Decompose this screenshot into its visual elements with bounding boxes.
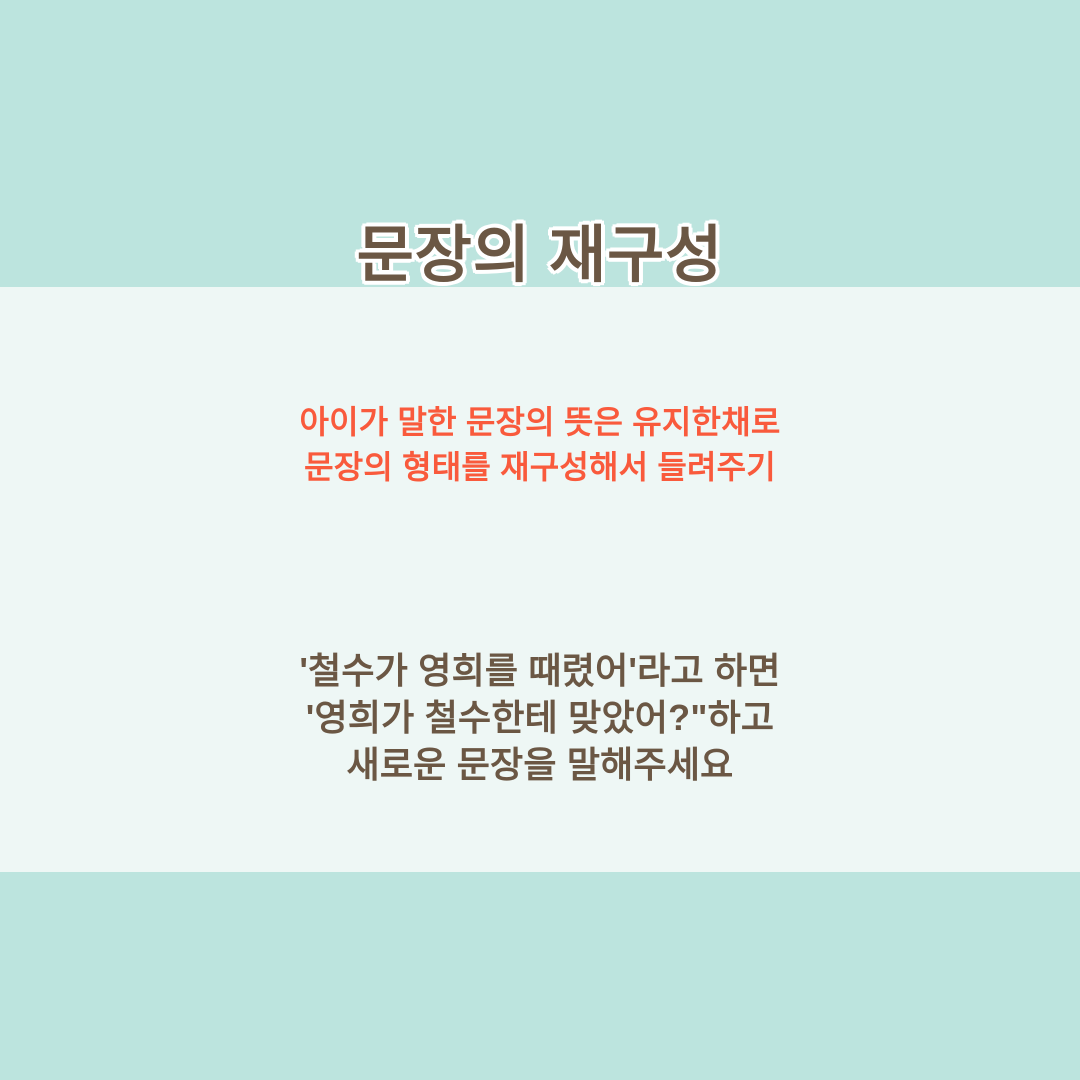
slide-root: 문장의 재구성 아이가 말한 문장의 뜻은 유지한채로 문장의 형태를 재구성해…	[0, 0, 1080, 1080]
example-dialogue-text: '철수가 영희를 때렸어'라고 하면 '영희가 철수한테 맞았어?"하고 새로운…	[0, 648, 1080, 788]
page-title: 문장의 재구성	[0, 220, 1080, 291]
highlight-instruction-text: 아이가 말한 문장의 뜻은 유지한채로 문장의 형태를 재구성해서 들려주기	[0, 400, 1080, 491]
bottom-color-band	[0, 872, 1080, 1080]
